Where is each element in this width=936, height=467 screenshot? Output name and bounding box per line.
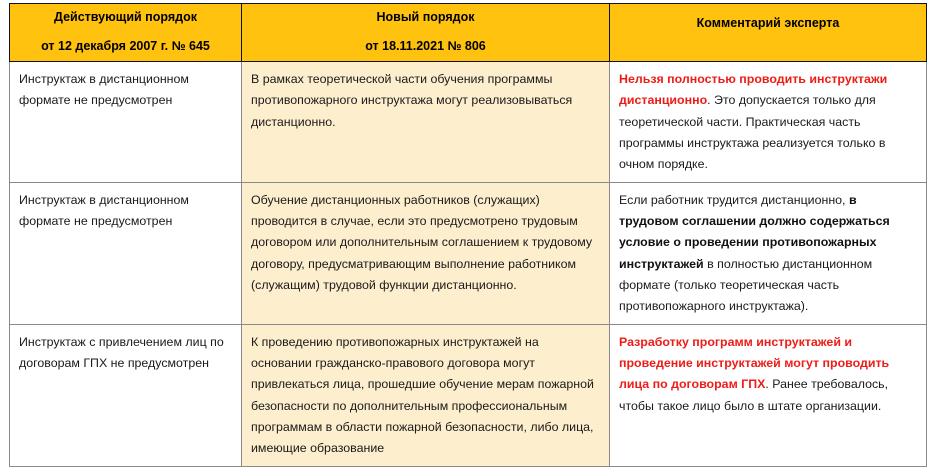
column-header-current-order-subtitle: от 12 декабря 2007 г. № 645 (16, 40, 235, 53)
column-header-expert-comment: Комментарий эксперта (610, 4, 927, 62)
page-canvas: Действующий порядок от 12 декабря 2007 г… (0, 0, 936, 418)
table-row: Инструктаж с привлечением лиц по договор… (10, 324, 927, 466)
header-row: Действующий порядок от 12 декабря 2007 г… (10, 4, 927, 62)
column-header-new-order: Новый порядок от 18.11.2021 № 806 (242, 4, 610, 62)
comparison-table: Действующий порядок от 12 декабря 2007 г… (9, 3, 927, 467)
cell-new-order: В рамках теоретической части обучения пр… (242, 62, 610, 183)
column-header-current-order: Действующий порядок от 12 декабря 2007 г… (10, 4, 242, 62)
column-header-current-order-title: Действующий порядок (16, 11, 235, 40)
table-header: Действующий порядок от 12 декабря 2007 г… (10, 4, 927, 62)
cell-new-order: К проведению противопожарных инструктаже… (242, 324, 610, 466)
cell-current-order: Инструктаж в дистанционном формате не пр… (10, 182, 242, 324)
cell-current-order: Инструктаж с привлечением лиц по договор… (10, 324, 242, 466)
cell-expert-comment: Разработку программ инструктажей и прове… (610, 324, 927, 466)
cell-current-order: Инструктаж в дистанционном формате не пр… (10, 62, 242, 183)
column-header-expert-comment-title: Комментарий эксперта (616, 17, 920, 46)
column-header-new-order-title: Новый порядок (248, 11, 603, 40)
cell-expert-comment: Если работник трудится дистанционно, в т… (610, 182, 927, 324)
cell-new-order: Обучение дистанционных работников (служа… (242, 182, 610, 324)
expert-comment-lead: Если работник трудится дистанционно, (619, 193, 849, 207)
table-row: Инструктаж в дистанционном формате не пр… (10, 62, 927, 183)
table-row: Инструктаж в дистанционном формате не пр… (10, 182, 927, 324)
cell-expert-comment: Нельзя полностью проводить инструктажи д… (610, 62, 927, 183)
table-body: Инструктаж в дистанционном формате не пр… (10, 62, 927, 467)
column-header-new-order-subtitle: от 18.11.2021 № 806 (248, 40, 603, 53)
